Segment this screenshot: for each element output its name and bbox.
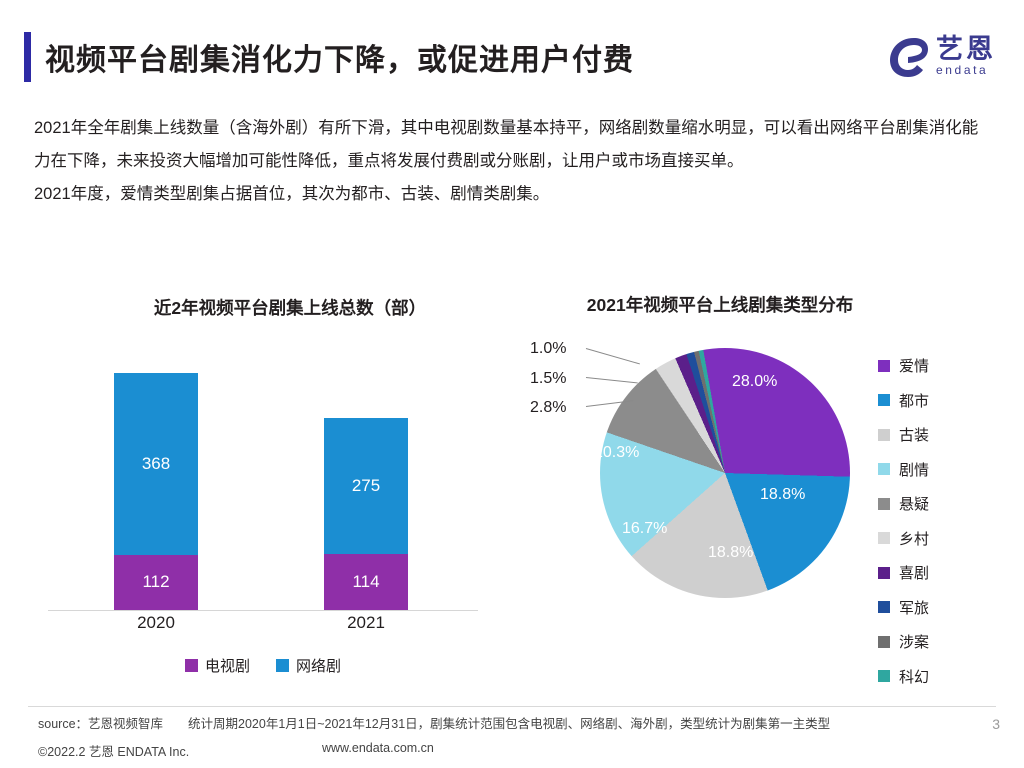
bar-column-2021: 275 114 xyxy=(324,418,408,610)
lead-paragraph-1: 2021年全年剧集上线数量（含海外剧）有所下滑，其中电视剧数量基本持平，网络剧数… xyxy=(34,112,984,178)
pie-value-xuanyi: 10.3% xyxy=(594,444,639,462)
bar-segment-tv-2021: 114 xyxy=(324,554,408,610)
e-mark-icon xyxy=(884,32,928,80)
pie-legend-label: 悬疑 xyxy=(899,493,929,514)
footer-source: source：艺恩视频智库 统计周期2020年1月1日~2021年12月31日，… xyxy=(38,713,830,732)
pie-legend-label: 乡村 xyxy=(899,528,929,549)
lead-paragraph-2: 2021年度，爱情类型剧集占据首位，其次为都市、古装、剧情类剧集。 xyxy=(34,178,984,211)
pie-legend-item-5[interactable]: 乡村 xyxy=(878,528,998,549)
brand-logo: 艺恩 endata xyxy=(846,26,996,86)
page-title: 视频平台剧集消化力下降，或促进用户付费 xyxy=(24,28,724,86)
legend-label-tv: 电视剧 xyxy=(205,655,250,676)
legend-swatch-tv-icon xyxy=(185,659,198,672)
pie-value-dushi: 18.8% xyxy=(760,486,805,504)
pie-legend-label: 科幻 xyxy=(899,666,929,687)
pie-legend-item-9[interactable]: 科幻 xyxy=(878,666,998,687)
pie-value-xiangcun: 2.8% xyxy=(530,399,566,417)
pie-legend-swatch-icon xyxy=(878,498,890,510)
pie-value-juqing: 16.7% xyxy=(622,520,667,538)
bar-segment-tv-2020: 112 xyxy=(114,555,198,610)
pie-legend-label: 爱情 xyxy=(899,355,929,376)
pie-value-guzhuang: 18.8% xyxy=(708,544,753,562)
logo-words: 艺恩 endata xyxy=(936,35,996,78)
pie-value-junlv: 1.0% xyxy=(530,340,566,358)
pie-legend-label: 都市 xyxy=(899,390,929,411)
pie-chart-title: 2021年视频平台上线剧集类型分布 xyxy=(520,292,920,317)
pie-legend-label: 剧情 xyxy=(899,459,929,480)
bar-segment-net-2020: 368 xyxy=(114,373,198,555)
pie-legend-swatch-icon xyxy=(878,394,890,406)
bar-plot-area: 368 112 275 114 xyxy=(48,345,478,611)
pie-legend-swatch-icon xyxy=(878,601,890,613)
footer-divider xyxy=(28,706,996,707)
pie-legend-item-6[interactable]: 喜剧 xyxy=(878,562,998,583)
slide-page: 视频平台剧集消化力下降，或促进用户付费 艺恩 endata 2021年全年剧集上… xyxy=(0,0,1024,768)
legend-item-tv[interactable]: 电视剧 xyxy=(185,655,250,676)
page-number: 3 xyxy=(992,716,1000,732)
pie-legend-label: 喜剧 xyxy=(899,562,929,583)
pie-legend-swatch-icon xyxy=(878,532,890,544)
footer-copyright: ©2022.2 艺恩 ENDATA Inc. xyxy=(38,741,189,760)
pie-legend-label: 古装 xyxy=(899,424,929,445)
legend-swatch-net-icon xyxy=(276,659,289,672)
bar-xlabel-2021: 2021 xyxy=(306,613,426,633)
pie-legend-item-4[interactable]: 悬疑 xyxy=(878,493,998,514)
title-accent-bar xyxy=(24,32,31,82)
bar-segment-net-2021: 275 xyxy=(324,418,408,554)
leader-line-junlv xyxy=(586,348,640,364)
bar-chart-legend: 电视剧 网络剧 xyxy=(48,655,478,676)
pie-value-xiju: 1.5% xyxy=(530,370,566,388)
leader-line-xiju xyxy=(586,377,638,383)
legend-item-net[interactable]: 网络剧 xyxy=(276,655,341,676)
pie-legend-swatch-icon xyxy=(878,636,890,648)
pie-value-aiqing: 28.0% xyxy=(732,373,777,391)
footer-url[interactable]: www.endata.com.cn xyxy=(322,741,434,755)
pie-legend-swatch-icon xyxy=(878,463,890,475)
bar-axis-labels: 2020 2021 xyxy=(48,613,478,643)
bar-column-2020: 368 112 xyxy=(114,373,198,610)
pie-legend-swatch-icon xyxy=(878,567,890,579)
pie-legend-label: 涉案 xyxy=(899,631,929,652)
pie-legend-item-7[interactable]: 军旅 xyxy=(878,597,998,618)
logo-name-cn: 艺恩 xyxy=(936,35,996,63)
legend-label-net: 网络剧 xyxy=(296,655,341,676)
pie-legend-swatch-icon xyxy=(878,429,890,441)
pie-legend-item-0[interactable]: 爱情 xyxy=(878,355,998,376)
lead-text: 2021年全年剧集上线数量（含海外剧）有所下滑，其中电视剧数量基本持平，网络剧数… xyxy=(34,112,984,211)
pie-chart: 28.0% 18.8% 18.8% 16.7% 10.3% 2.8% 1.5% … xyxy=(600,348,850,598)
pie-legend-swatch-icon xyxy=(878,670,890,682)
logo-name-en: endata xyxy=(936,63,988,77)
bar-chart-title: 近2年视频平台剧集上线总数（部） xyxy=(90,295,490,320)
pie-legend-item-8[interactable]: 涉案 xyxy=(878,631,998,652)
pie-legend-label: 军旅 xyxy=(899,597,929,618)
pie-legend-item-2[interactable]: 古装 xyxy=(878,424,998,445)
page-title-text: 视频平台剧集消化力下降，或促进用户付费 xyxy=(45,35,634,79)
bar-chart: 368 112 275 114 2020 2021 xyxy=(48,345,478,615)
pie-legend-item-3[interactable]: 剧情 xyxy=(878,459,998,480)
pie-chart-legend: 爱情都市古装剧情悬疑乡村喜剧军旅涉案科幻 xyxy=(878,355,998,687)
pie-legend-item-1[interactable]: 都市 xyxy=(878,390,998,411)
pie-legend-swatch-icon xyxy=(878,360,890,372)
bar-xlabel-2020: 2020 xyxy=(96,613,216,633)
